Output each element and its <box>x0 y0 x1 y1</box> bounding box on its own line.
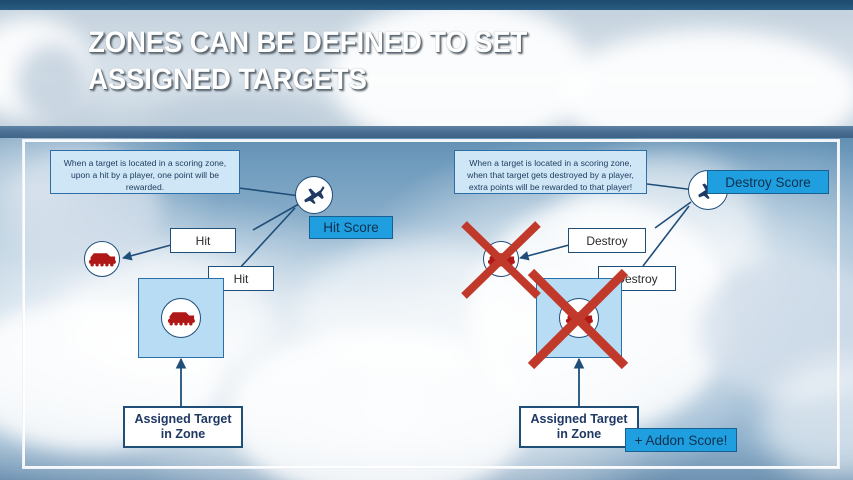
page-title: ZONES CAN BE DEFINED TO SET ASSIGNED TAR… <box>88 24 788 98</box>
cloud-decor <box>18 44 88 124</box>
slide-root: ZONES CAN BE DEFINED TO SET ASSIGNED TAR… <box>0 0 853 480</box>
content-panel-inner: When a target is located in a scoring zo… <box>23 140 839 468</box>
red-cross-icon <box>464 224 538 296</box>
page-title-text: ZONES CAN BE DEFINED TO SET ASSIGNED TAR… <box>88 24 732 98</box>
right-zone-caption: Assigned Target in Zone <box>519 406 639 448</box>
top-accent-bar <box>0 0 853 10</box>
cloud-decor <box>150 94 330 126</box>
red-cross-icon <box>531 272 625 366</box>
content-panel: When a target is located in a scoring zo… <box>22 139 840 469</box>
addon-score-badge[interactable]: + Addon Score! <box>625 428 737 452</box>
header-divider <box>0 126 853 138</box>
destroyed-markers <box>23 140 839 468</box>
